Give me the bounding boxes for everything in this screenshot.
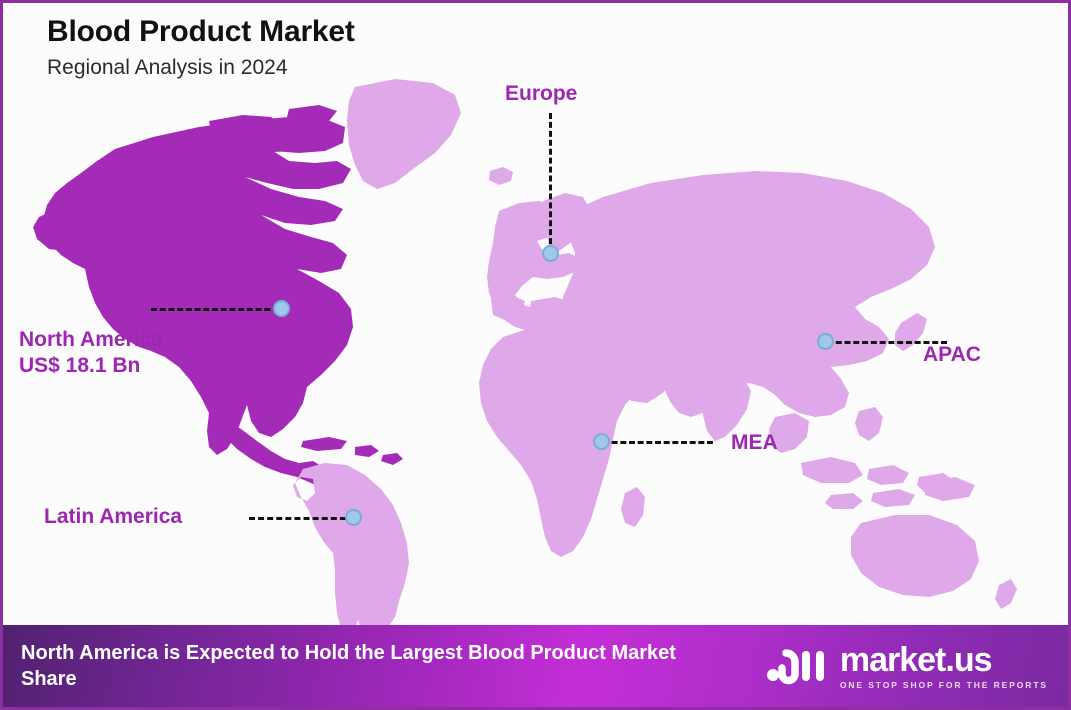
landmass-australia	[851, 515, 979, 597]
leader-line-europe	[549, 113, 552, 253]
landmass-iceland	[489, 167, 513, 185]
map-marker-europe[interactable]	[542, 245, 559, 262]
page-title: Blood Product Market	[47, 15, 355, 48]
landmass-greenland	[347, 79, 461, 189]
landmass-philippines	[855, 407, 883, 441]
region-name-latin-america: Latin America	[44, 505, 182, 528]
footer-callout-text: North America is Expected to Hold the La…	[21, 640, 721, 692]
region-name-apac: APAC	[923, 343, 981, 366]
region-value-north-america: US$ 18.1 Bn	[19, 353, 163, 379]
landmass-north-america	[43, 117, 353, 455]
page-subtitle: Regional Analysis in 2024	[47, 56, 355, 79]
footer-banner: North America is Expected to Hold the La…	[3, 625, 1071, 707]
region-label-mea[interactable]: MEA	[731, 430, 778, 456]
region-name-europe: Europe	[505, 82, 577, 105]
header: Blood Product Market Regional Analysis i…	[47, 15, 355, 79]
landmass-madagascar	[621, 487, 645, 527]
leader-line-north-america	[151, 308, 279, 311]
world-map	[3, 65, 1071, 625]
leader-line-mea	[603, 441, 713, 444]
region-label-apac[interactable]: APAC	[923, 342, 981, 368]
region-name-north-america: North America	[19, 328, 163, 351]
region-label-latin-america[interactable]: Latin America	[44, 504, 182, 530]
map-marker-apac[interactable]	[817, 333, 834, 350]
logo-wordmark: market.us	[840, 643, 1048, 677]
landmass-new-zealand	[995, 579, 1017, 609]
world-map-svg	[3, 65, 1071, 625]
logo-text-block: market.us ONE STOP SHOP FOR THE REPORTS	[840, 643, 1048, 690]
brand-logo[interactable]: market.us ONE STOP SHOP FOR THE REPORTS	[766, 642, 1048, 691]
region-label-europe[interactable]: Europe	[505, 81, 577, 107]
map-marker-north-america[interactable]	[273, 300, 290, 317]
map-marker-latin-america[interactable]	[345, 509, 362, 526]
infographic-root: Blood Product Market Regional Analysis i…	[0, 0, 1071, 710]
market-us-logo-icon	[766, 642, 828, 691]
region-label-north-america[interactable]: North America US$ 18.1 Bn	[19, 327, 163, 380]
landmass-caribbean	[301, 437, 403, 465]
leader-line-latin-america	[249, 517, 355, 520]
map-marker-mea[interactable]	[593, 433, 610, 450]
region-name-mea: MEA	[731, 431, 778, 454]
logo-tagline: ONE STOP SHOP FOR THE REPORTS	[840, 681, 1048, 690]
